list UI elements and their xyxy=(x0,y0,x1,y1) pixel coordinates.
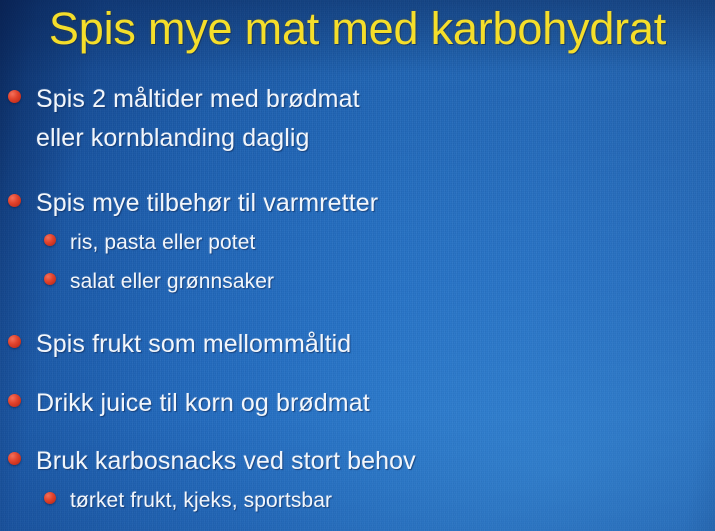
bullet-item: Spis 2 måltider med brødmat xyxy=(8,86,360,112)
sub-bullet-text: tørket frukt, kjeks, sportsbar xyxy=(70,490,332,512)
bullet-text: Spis 2 måltider med brødmat xyxy=(36,86,360,112)
sub-bullet-item: salat eller grønnsaker xyxy=(44,271,274,293)
bullet-point-icon xyxy=(8,335,21,348)
bullet-point-icon xyxy=(44,273,56,285)
bullet-text: Spis frukt som mellommåltid xyxy=(36,331,351,357)
sub-bullet-text: salat eller grønnsaker xyxy=(70,271,274,293)
bullet-item: Drikk juice til korn og brødmat xyxy=(8,390,370,416)
bullet-point-icon xyxy=(8,394,21,407)
bullet-item: Spis mye tilbehør til varmretter xyxy=(8,190,378,216)
bullet-text: Drikk juice til korn og brødmat xyxy=(36,390,370,416)
presentation-slide: Spis mye mat med karbohydrat Spis 2 målt… xyxy=(0,0,715,531)
bullet-text-continuation: eller kornblanding daglig xyxy=(36,125,310,151)
bullet-text: Spis mye tilbehør til varmretter xyxy=(36,190,378,216)
bullet-point-icon xyxy=(8,452,21,465)
sub-bullet-text: ris, pasta eller potet xyxy=(70,232,255,254)
sub-bullet-item: ris, pasta eller potet xyxy=(44,232,255,254)
bullet-text: Bruk karbosnacks ved stort behov xyxy=(36,448,416,474)
slide-title: Spis mye mat med karbohydrat xyxy=(0,2,715,56)
bullet-point-icon xyxy=(44,234,56,246)
bullet-item: Bruk karbosnacks ved stort behov xyxy=(8,448,416,474)
bullet-point-icon xyxy=(8,90,21,103)
bullet-point-icon xyxy=(8,194,21,207)
bullet-point-icon xyxy=(44,492,56,504)
bullet-item: Spis frukt som mellommåltid xyxy=(8,331,351,357)
sub-bullet-item: tørket frukt, kjeks, sportsbar xyxy=(44,490,332,512)
